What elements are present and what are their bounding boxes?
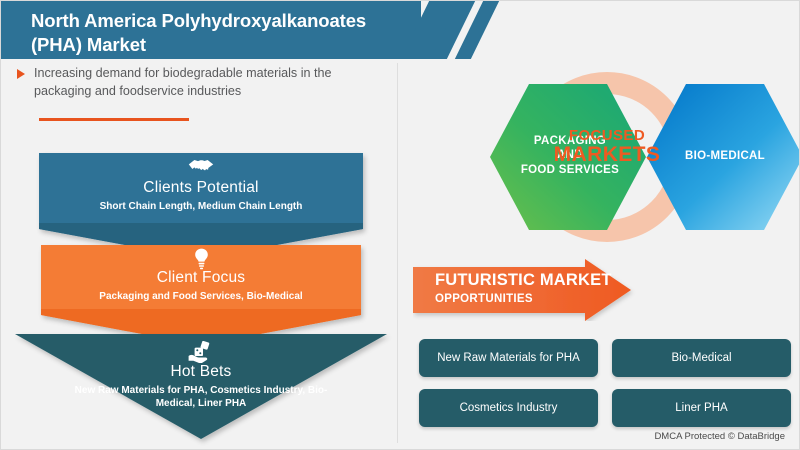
opportunity-card[interactable]: Liner PHA: [612, 389, 791, 427]
opportunity-card[interactable]: Cosmetics Industry: [419, 389, 598, 427]
dmca-footer: DMCA Protected © DataBridge: [654, 431, 785, 442]
hand-dice-icon: [1, 341, 401, 368]
infographic-canvas: North America Polyhydroxyalkanoates (PHA…: [0, 0, 800, 450]
page-title: North America Polyhydroxyalkanoates (PHA…: [31, 9, 411, 56]
packaging-hexagon: [490, 84, 646, 230]
handshake-icon: [1, 156, 401, 179]
opportunity-card[interactable]: Bio-Medical: [612, 339, 791, 377]
futuristic-market-arrow: FUTURISTIC MARKET OPPORTUNITIES: [413, 259, 713, 321]
focused-markets-diagram: PACKAGING AND FOOD SERVICES BIO-MEDICAL …: [411, 59, 800, 255]
opportunity-card[interactable]: New Raw Materials for PHA: [419, 339, 598, 377]
opportunity-cards: New Raw Materials for PHA Bio-Medical Co…: [419, 339, 791, 427]
lightbulb-icon: [1, 248, 401, 275]
funnel-chart: [1, 1, 401, 450]
